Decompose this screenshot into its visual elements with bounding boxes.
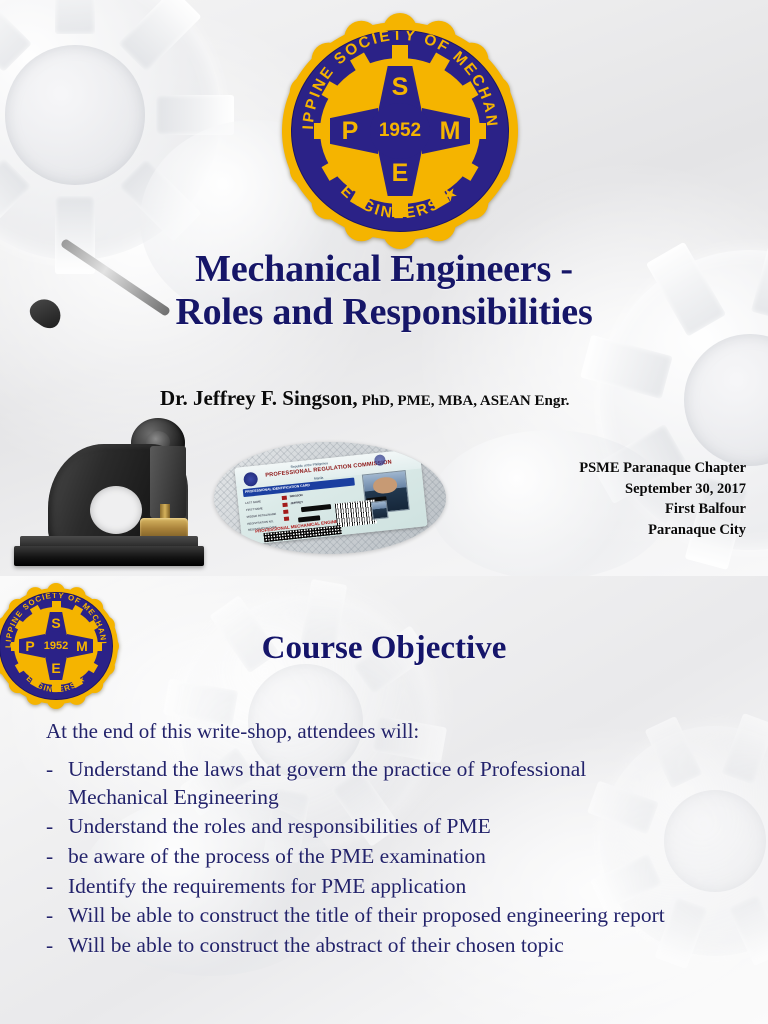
title-slide: PHILIPPINE SOCIETY OF MECHANICAL ENGINEE… [0, 0, 768, 576]
event-details: PSME Paranaque Chapter September 30, 201… [446, 458, 746, 540]
logo-spoke-s: S [386, 72, 414, 102]
id-marker-3 [283, 510, 288, 515]
bullet-marker: - [46, 873, 68, 901]
author-byline: Dr. Jeffrey F. Singson, PhD, PME, MBA, A… [160, 386, 569, 411]
id-marker-2 [282, 503, 287, 508]
logo-inner-gear: S P M E 1952 [320, 58, 480, 204]
bullet-marker: - [46, 813, 68, 841]
list-item: - Identify the requirements for PME appl… [46, 873, 686, 901]
event-date: September 30, 2017 [446, 479, 746, 500]
bullet-marker: - [46, 843, 68, 871]
list-item: - Will be able to construct the abstract… [46, 932, 686, 960]
bullet-text: Will be able to construct the title of t… [68, 902, 686, 930]
id-ghost-photo [371, 500, 389, 520]
objective-intro: At the end of this write-shop, attendees… [46, 719, 419, 744]
slide-deck: PHILIPPINE SOCIETY OF MECHANICAL ENGINEE… [0, 0, 768, 1024]
event-location: Paranaque City [446, 520, 746, 541]
id-marker-4 [284, 517, 289, 522]
bullet-text: Understand the roles and responsibilitie… [68, 813, 686, 841]
id-first-name-label: FIRST NAME [246, 506, 263, 512]
id-redaction-1 [301, 504, 331, 512]
event-chapter: PSME Paranaque Chapter [446, 458, 746, 479]
prc-id-card-image: Republic of the Philippines PROFESSIONAL… [214, 442, 446, 554]
objective-bullet-list: - Understand the laws that govern the pr… [46, 756, 686, 961]
logo-center-disc: 1952 [370, 103, 430, 159]
psme-logo: PHILIPPINE SOCIETY OF MECHANICAL ENGINEE… [282, 22, 518, 240]
id-middle-initial-label: MIDDLE INITIAL/NAME [246, 512, 276, 519]
list-item: - Understand the roles and responsibilit… [46, 813, 686, 841]
id-last-name-label: LAST NAME [245, 499, 261, 505]
list-item: - be aware of the process of the PME exa… [46, 843, 686, 871]
list-item: - Understand the laws that govern the pr… [46, 756, 686, 811]
bullet-text: be aware of the process of the PME exami… [68, 843, 686, 871]
author-credentials: PhD, PME, MBA, ASEAN Engr. [362, 393, 570, 409]
logo-year: 1952 [379, 120, 421, 142]
press-base [14, 546, 204, 566]
press-throat [90, 486, 142, 534]
bullet-text: Understand the laws that govern the prac… [68, 756, 686, 811]
bullet-text: Identify the requirements for PME applic… [68, 873, 686, 901]
list-item: - Will be able to construct the title of… [46, 902, 686, 930]
bullet-text: Will be able to construct the abstract o… [68, 932, 686, 960]
bullet-marker: - [46, 932, 68, 960]
press-handle-grip [25, 293, 66, 332]
bullet-marker: - [46, 756, 68, 784]
id-marker-1 [282, 496, 287, 501]
id-portrait-face [373, 476, 398, 494]
logo-spoke-m: M [436, 116, 464, 146]
bullet-marker: - [46, 902, 68, 930]
logo-spoke-e: E [386, 158, 414, 188]
event-venue: First Balfour [446, 499, 746, 520]
id-last-name-value: SINGSON [289, 493, 302, 498]
title-line-1: Mechanical Engineers - [195, 248, 573, 290]
author-name: Dr. Jeffrey F. Singson, [160, 386, 358, 410]
logo-spoke-p: P [336, 116, 364, 146]
title-line-2: Roles and Responsibilities [175, 291, 592, 333]
section-heading: Course Objective [0, 630, 768, 667]
seal-press-image [8, 296, 208, 568]
objective-slide: PHILIPPINE SOCIETY OF MECHANICAL ENGINEE… [0, 576, 768, 1024]
id-first-name-value: JEFFREY [290, 500, 303, 505]
